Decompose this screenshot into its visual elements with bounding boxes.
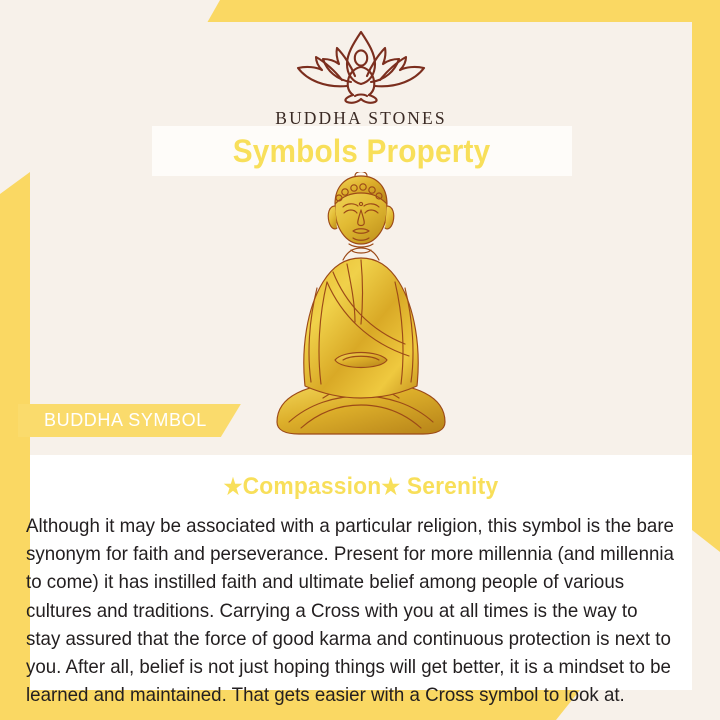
content-card: ★Compassion★ Serenity Although it may be… — [30, 455, 692, 690]
category-ribbon-label: BUDDHA SYMBOL — [44, 410, 207, 431]
hero-image — [261, 172, 461, 444]
title-banner: Symbols Property — [152, 126, 572, 176]
content-subheading: ★Compassion★ Serenity — [47, 473, 676, 501]
page-title: Symbols Property — [233, 133, 491, 170]
seated-golden-buddha-illustration — [261, 172, 461, 444]
subheading-word-one: Compassion — [243, 473, 382, 500]
brand-logo: BUDDHA STONES — [30, 26, 692, 129]
content-stage: BUDDHA STONES Symbols Property — [30, 22, 692, 690]
subheading-word-two: Serenity — [407, 473, 498, 500]
lotus-meditation-icon — [285, 26, 437, 104]
category-ribbon: BUDDHA SYMBOL — [18, 404, 241, 437]
star-icon-right: ★ — [381, 474, 400, 499]
content-paragraph: Although it may be associated with a par… — [26, 512, 674, 709]
poster-root: BUDDHA STONES Symbols Property — [0, 0, 720, 720]
right-accent-band — [692, 0, 720, 552]
star-icon-left: ★ — [224, 474, 243, 499]
